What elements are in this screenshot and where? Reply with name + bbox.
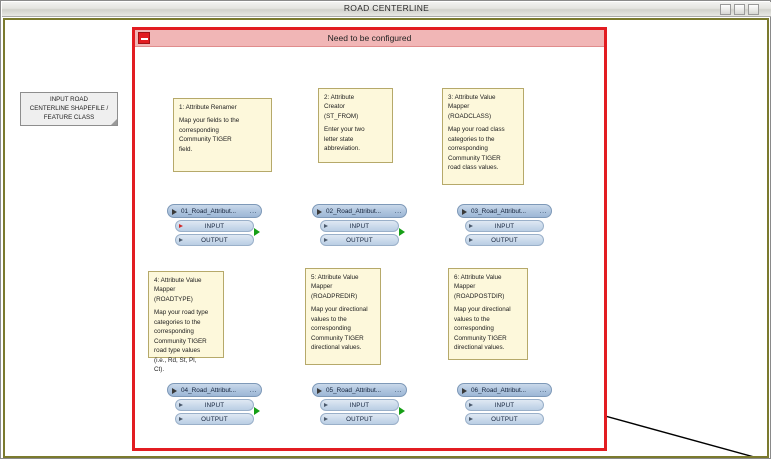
run-icon[interactable] [172,209,177,215]
note-2[interactable]: 2: Attribute Creator (ST_FROM) Enter you… [318,88,393,163]
connector-arrow-icon [399,228,405,236]
note-6-title: 6: Attribute Value Mapper (ROADPOSTDIR) [454,273,522,301]
close-button[interactable] [748,4,759,15]
note-3-title: 3: Attribute Value Mapper (ROADCLASS) [448,93,518,121]
connector-arrow-icon [399,407,405,415]
tool-node-06-input-label: INPUT [495,402,515,409]
tool-node-02-input-label: INPUT [350,223,370,230]
tool-node-02-label: 02_Road_Attribut... [326,208,381,215]
tool-node-03-label: 03_Road_Attribut... [471,208,526,215]
tool-node-03-output-label: OUTPUT [491,237,518,244]
tool-node-06[interactable]: 06_Road_Attribut... ... INPUT OUTPUT [457,383,552,425]
port-arrow-icon [469,238,473,242]
application-window: ROAD CENTERLINE [0,0,771,459]
tool-node-01-input-label: INPUT [205,223,225,230]
tool-menu-icon[interactable]: ... [395,205,402,218]
tool-node-05-header[interactable]: 05_Road_Attribut... ... [312,383,407,397]
title-bar: ROAD CENTERLINE [2,2,771,17]
tool-node-05-output-port[interactable]: OUTPUT [320,413,399,425]
tool-node-03[interactable]: 03_Road_Attribut... ... INPUT OUTPUT [457,204,552,246]
port-arrow-icon [469,224,473,228]
tool-node-03-input-label: INPUT [495,223,515,230]
maximize-button[interactable] [734,4,745,15]
tool-node-03-output-port[interactable]: OUTPUT [465,234,544,246]
connector-arrow-icon [254,407,260,415]
tool-node-06-label: 06_Road_Attribut... [471,387,526,394]
note-3-body: Map your road class categories to the co… [448,125,518,172]
tool-menu-icon[interactable]: ... [395,384,402,397]
note-4[interactable]: 4: Attribute Value Mapper (ROADTYPE) Map… [148,271,224,358]
tool-node-04-header[interactable]: 04_Road_Attribut... ... [167,383,262,397]
tool-node-02-output-port[interactable]: OUTPUT [320,234,399,246]
run-icon[interactable] [462,388,467,394]
tool-menu-icon[interactable]: ... [540,205,547,218]
tool-node-04-output-label: OUTPUT [201,416,228,423]
tool-node-01-input-port[interactable]: INPUT [175,220,254,232]
model-group-header[interactable]: Need to be configured [135,30,604,47]
tool-node-05-label: 05_Road_Attribut... [326,387,381,394]
tool-menu-icon[interactable]: ... [540,384,547,397]
note-5[interactable]: 5: Attribute Value Mapper (ROADPREDIR) M… [305,268,381,365]
tool-node-04-label: 04_Road_Attribut... [181,387,236,394]
tool-node-02[interactable]: 02_Road_Attribut... ... INPUT OUTPUT [312,204,407,246]
tool-node-01-label: 01_Road_Attribut... [181,208,236,215]
run-icon[interactable] [317,209,322,215]
input-dataset-box[interactable]: INPUT ROAD CENTERLINE SHAPEFILE / FEATUR… [20,92,118,126]
note-1-body: Map your fields to the corresponding Com… [179,116,266,154]
tool-node-05[interactable]: 05_Road_Attribut... ... INPUT OUTPUT [312,383,407,425]
window-title: ROAD CENTERLINE [2,3,771,13]
note-3[interactable]: 3: Attribute Value Mapper (ROADCLASS) Ma… [442,88,524,185]
tool-node-01-output-label: OUTPUT [201,237,228,244]
tool-node-06-header[interactable]: 06_Road_Attribut... ... [457,383,552,397]
port-arrow-icon [469,417,473,421]
tool-node-04-input-port[interactable]: INPUT [175,399,254,411]
note-6[interactable]: 6: Attribute Value Mapper (ROADPOSTDIR) … [448,268,528,360]
port-arrow-icon [324,238,328,242]
tool-node-02-output-label: OUTPUT [346,237,373,244]
port-arrow-icon [469,403,473,407]
tool-node-04-output-port[interactable]: OUTPUT [175,413,254,425]
note-5-title: 5: Attribute Value Mapper (ROADPREDIR) [311,273,375,301]
connector-arrow-icon [254,228,260,236]
note-4-body: Map your road type categories to the cor… [154,308,218,374]
note-6-body: Map your directional values to the corre… [454,305,522,352]
tool-node-06-output-label: OUTPUT [491,416,518,423]
tool-node-01-output-port[interactable]: OUTPUT [175,234,254,246]
tool-node-05-output-label: OUTPUT [346,416,373,423]
workspace-canvas[interactable]: Need to be configured INPUT ROAD CENTERL… [3,18,769,458]
note-2-body: Enter your two letter state abbreviation… [324,125,387,153]
note-1[interactable]: 1: Attribute Renamer Map your fields to … [173,98,272,172]
port-arrow-icon [179,238,183,242]
tool-node-03-input-port[interactable]: INPUT [465,220,544,232]
note-2-title: 2: Attribute Creator (ST_FROM) [324,93,387,121]
tool-node-03-header[interactable]: 03_Road_Attribut... ... [457,204,552,218]
tool-node-01-header[interactable]: 01_Road_Attribut... ... [167,204,262,218]
tool-node-02-header[interactable]: 02_Road_Attribut... ... [312,204,407,218]
note-5-body: Map your directional values to the corre… [311,305,375,352]
resize-corner-icon [111,119,117,125]
port-arrow-icon [179,403,183,407]
port-arrow-icon [179,224,183,228]
note-4-title: 4: Attribute Value Mapper (ROADTYPE) [154,276,218,304]
port-arrow-icon [324,417,328,421]
tool-node-06-output-port[interactable]: OUTPUT [465,413,544,425]
run-icon[interactable] [172,388,177,394]
port-arrow-icon [324,403,328,407]
tool-node-04[interactable]: 04_Road_Attribut... ... INPUT OUTPUT [167,383,262,425]
tool-node-04-input-label: INPUT [205,402,225,409]
tool-node-01[interactable]: 01_Road_Attribut... ... INPUT OUTPUT [167,204,262,246]
port-arrow-icon [324,224,328,228]
tool-node-02-input-port[interactable]: INPUT [320,220,399,232]
port-arrow-icon [179,417,183,421]
model-group-label: Need to be configured [135,33,604,43]
tool-node-05-input-port[interactable]: INPUT [320,399,399,411]
tool-menu-icon[interactable]: ... [250,205,257,218]
tool-node-06-input-port[interactable]: INPUT [465,399,544,411]
tool-menu-icon[interactable]: ... [250,384,257,397]
tool-node-05-input-label: INPUT [350,402,370,409]
input-dataset-label: INPUT ROAD CENTERLINE SHAPEFILE / FEATUR… [30,96,108,121]
minimize-button[interactable] [720,4,731,15]
run-icon[interactable] [462,209,467,215]
run-icon[interactable] [317,388,322,394]
screenshot-root: ROAD CENTERLINE [0,0,771,459]
note-1-title: 1: Attribute Renamer [179,103,266,112]
